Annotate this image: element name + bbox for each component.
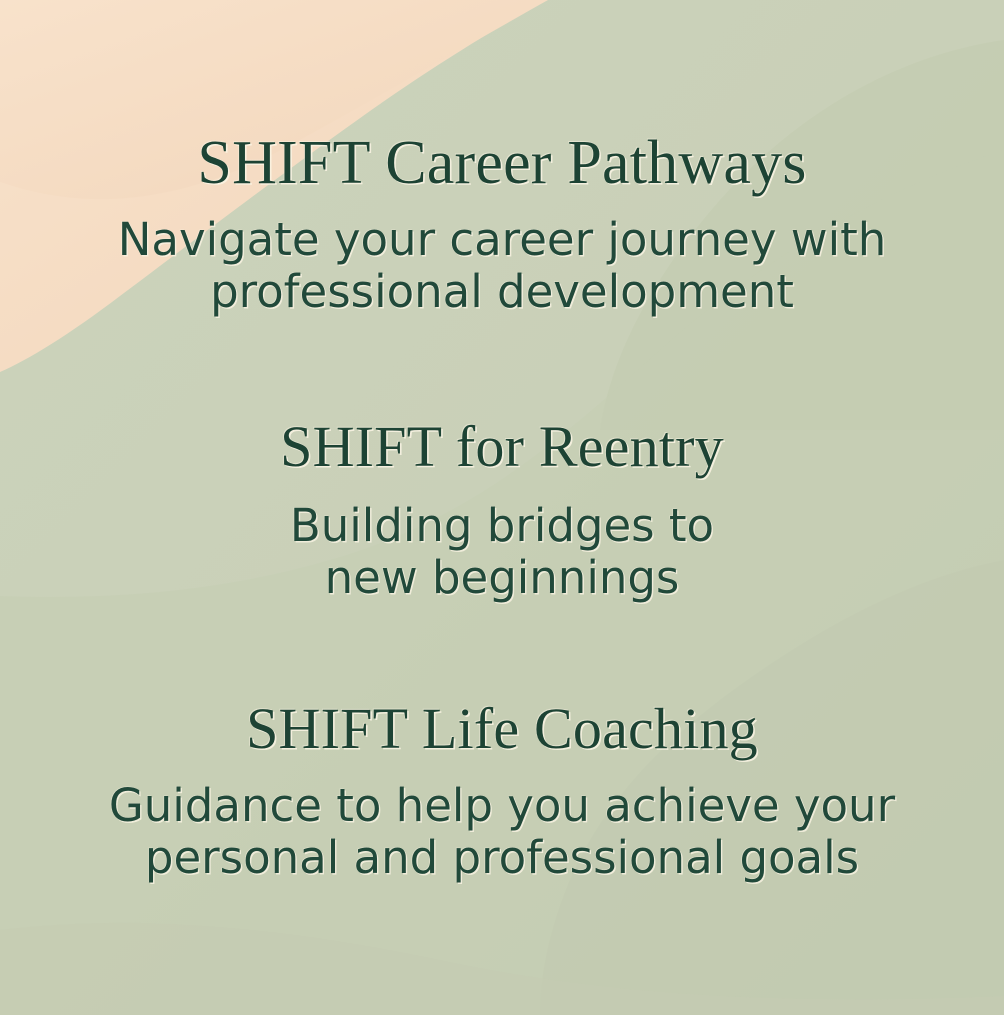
- service-title-reentry: SHIFT for Reentry: [0, 418, 1004, 476]
- service-subtitle-life-coaching: Guidance to help you achieve your person…: [0, 780, 1004, 884]
- subtitle-line: professional development: [0, 266, 1004, 318]
- subtitle-line: Guidance to help you achieve your: [0, 780, 1004, 832]
- service-title-life-coaching: SHIFT Life Coaching: [0, 700, 1004, 758]
- service-block-life-coaching: SHIFT Life Coaching Guidance to help you…: [0, 700, 1004, 884]
- service-block-reentry: SHIFT for Reentry Building bridges to ne…: [0, 418, 1004, 604]
- subtitle-line: new beginnings: [0, 552, 1004, 604]
- subtitle-line: Building bridges to: [0, 500, 1004, 552]
- subtitle-line: personal and professional goals: [0, 832, 1004, 884]
- poster-canvas: SHIFT Career Pathways Navigate your care…: [0, 0, 1004, 1015]
- service-subtitle-reentry: Building bridges to new beginnings: [0, 500, 1004, 604]
- service-subtitle-career-pathways: Navigate your career journey with profes…: [0, 214, 1004, 318]
- subtitle-line: Navigate your career journey with: [0, 214, 1004, 266]
- service-title-career-pathways: SHIFT Career Pathways: [0, 132, 1004, 194]
- services-content: SHIFT Career Pathways Navigate your care…: [0, 0, 1004, 1015]
- service-block-career-pathways: SHIFT Career Pathways Navigate your care…: [0, 132, 1004, 318]
